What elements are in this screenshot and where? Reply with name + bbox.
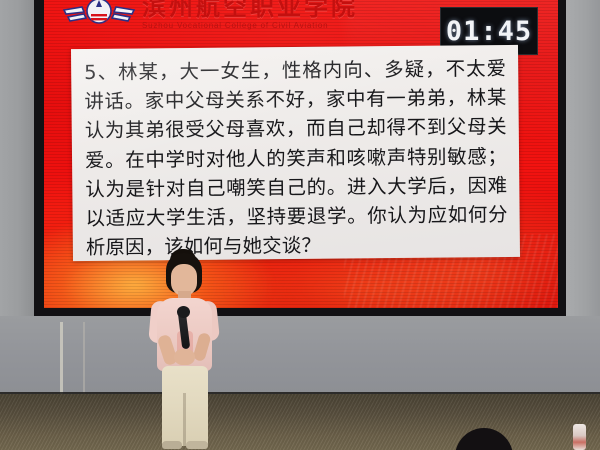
microphone-head-icon	[177, 306, 190, 318]
stage-floor	[0, 394, 600, 450]
countdown-timer-value: 01:45	[446, 18, 532, 45]
slide-question-text: 5、林某，大一女生，性格内向、多疑，不太爱讲话。家中父母关系不好，家中有一弟弟，…	[84, 54, 508, 262]
brand-name-en: Suzhou Vocational College of Civil Aviat…	[142, 20, 358, 31]
wall-trim-line-secondary	[83, 322, 85, 394]
presenter-figure	[141, 253, 229, 449]
presenter-shoe-left	[162, 441, 182, 449]
brand-name-cn: 滨州航空职业学院	[142, 0, 358, 20]
presenter-hands	[174, 349, 195, 365]
wall-trim-line	[60, 322, 63, 396]
institution-brand: 滨州航空职业学院 Suzhou Vocational College of Ci…	[62, 0, 358, 31]
slide-text-panel: 5、林某，大一女生，性格内向、多疑，不太爱讲话。家中父母关系不好，家中有一弟弟，…	[71, 45, 520, 261]
water-bottle-icon	[573, 424, 586, 450]
presenter-leg-separation	[183, 393, 186, 446]
presentation-scene: 滨州航空职业学院 Suzhou Vocational College of Ci…	[0, 0, 600, 450]
presenter-shoe-right	[186, 441, 208, 449]
winged-emblem-icon	[62, 0, 136, 30]
